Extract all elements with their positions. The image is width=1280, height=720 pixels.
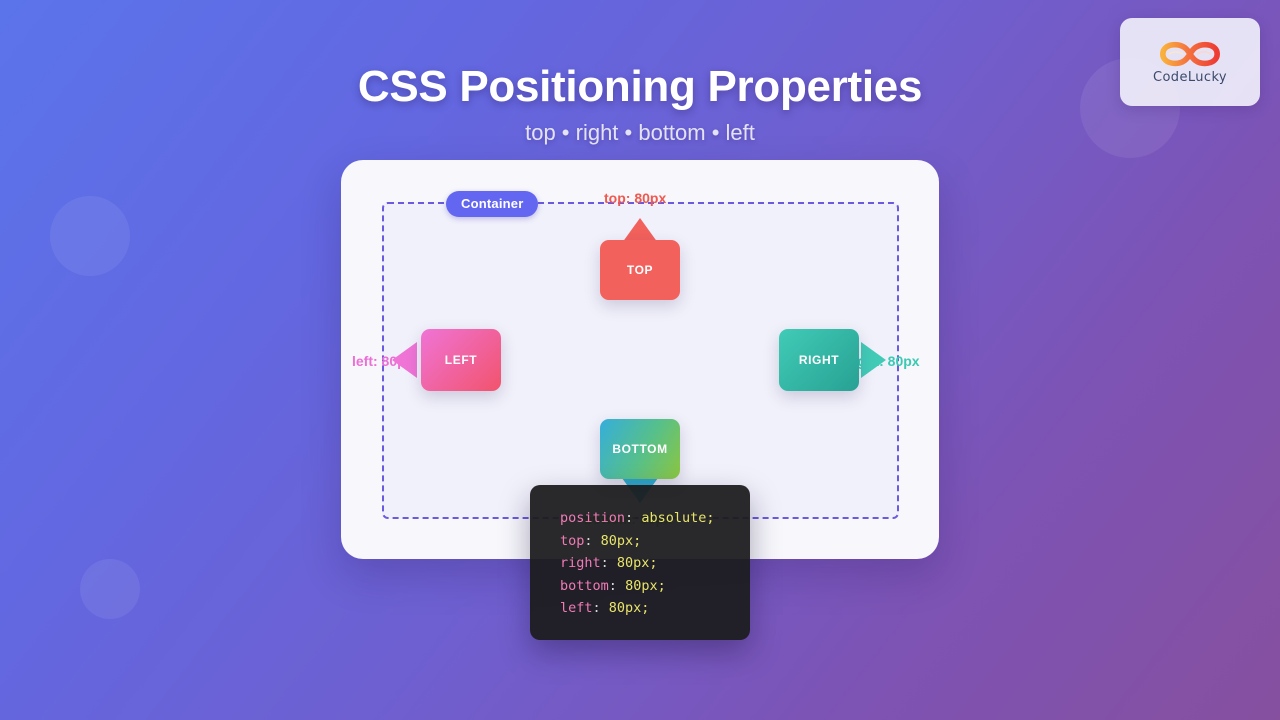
decorative-circle-bottom-left	[80, 559, 140, 619]
brand-badge: CodeLucky	[1120, 18, 1260, 106]
code-punctuation: :	[625, 510, 633, 526]
position-box-bottom[interactable]: BOTTOM	[600, 419, 680, 479]
infinity-icon	[1159, 39, 1221, 69]
code-value: 80px;	[601, 533, 642, 549]
arrow-right-icon	[861, 342, 886, 378]
code-punctuation: :	[584, 533, 592, 549]
code-property: position	[560, 510, 625, 526]
code-punctuation: :	[601, 555, 609, 571]
code-line: position: absolute;	[560, 507, 750, 530]
code-value: 80px;	[609, 600, 650, 616]
code-punctuation: :	[609, 578, 617, 594]
code-line: left: 80px;	[560, 597, 750, 620]
header: CSS Positioning Properties top • right •…	[0, 62, 1280, 146]
position-box-left[interactable]: LEFT	[421, 329, 501, 391]
slide-canvas: CSS Positioning Properties top • right •…	[0, 0, 1280, 720]
container-badge: Container	[446, 191, 538, 217]
code-snippet-panel: position: absolute; top: 80px; right: 80…	[530, 485, 750, 640]
code-punctuation: :	[593, 600, 601, 616]
code-property: top	[560, 533, 584, 549]
brand-name: CodeLucky	[1153, 70, 1227, 85]
decorative-circle-left	[50, 196, 130, 276]
code-property: right	[560, 555, 601, 571]
edge-label-top: top: 80px	[604, 190, 666, 206]
code-line: bottom: 80px;	[560, 575, 750, 598]
code-value: absolute;	[641, 510, 714, 526]
code-property: bottom	[560, 578, 609, 594]
arrow-left-icon	[392, 342, 417, 378]
code-line: right: 80px;	[560, 552, 750, 575]
page-title: CSS Positioning Properties	[0, 62, 1280, 112]
code-value: 80px;	[625, 578, 666, 594]
code-line: top: 80px;	[560, 530, 750, 553]
code-property: left	[560, 600, 593, 616]
position-box-top[interactable]: TOP	[600, 240, 680, 300]
code-value: 80px;	[617, 555, 658, 571]
position-box-right[interactable]: RIGHT	[779, 329, 859, 391]
page-subtitle: top • right • bottom • left	[0, 120, 1280, 146]
